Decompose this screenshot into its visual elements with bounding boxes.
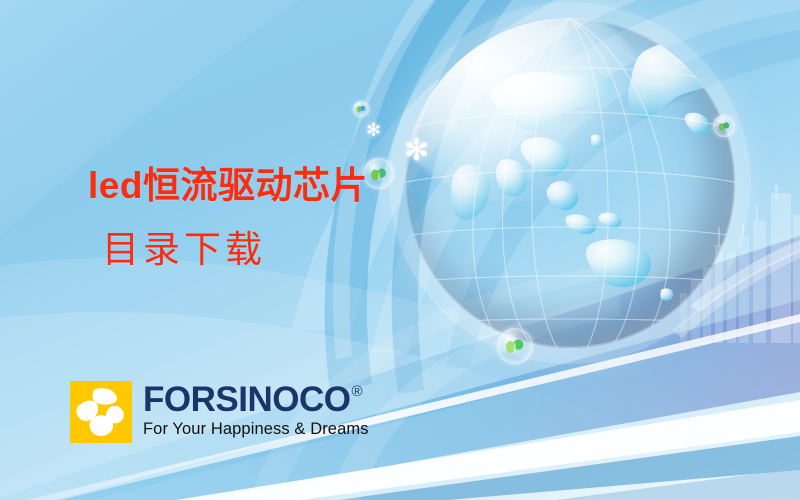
headline-latin: led bbox=[88, 165, 143, 206]
flower-petal-icon bbox=[70, 381, 132, 443]
leaf-icon bbox=[356, 104, 366, 114]
brand-wordmark: FORSINOCO ® bbox=[143, 381, 369, 418]
sprout-icon bbox=[504, 335, 526, 357]
headline-line-1: led恒流驱动芯片 bbox=[88, 164, 508, 208]
bubble-large bbox=[497, 328, 533, 364]
sparkle-icon: ✻ bbox=[404, 136, 429, 166]
logo-text-block: FORSINOCO ® For Your Happiness & Dreams bbox=[143, 381, 369, 439]
sparkle-icon: ✻ bbox=[366, 121, 381, 139]
brand-tagline: For Your Happiness & Dreams bbox=[143, 420, 369, 439]
brand-name: FORSINOCO bbox=[143, 381, 350, 418]
headline-cjk: 恒流驱动芯片 bbox=[143, 165, 368, 206]
brand-logo: FORSINOCO ® For Your Happiness & Dreams bbox=[70, 381, 369, 443]
bubble-small bbox=[353, 101, 369, 117]
bubble-small bbox=[713, 115, 735, 137]
headline-line-2: 目录下载 bbox=[102, 229, 508, 273]
leaf-icon bbox=[718, 120, 731, 133]
city-skyline bbox=[675, 175, 800, 355]
registered-trademark-icon: ® bbox=[351, 384, 362, 399]
promotional-banner: ✻ ✻ led恒流驱动芯片 目录下载 bbox=[0, 0, 800, 500]
headline-block: led恒流驱动芯片 目录下载 bbox=[88, 164, 508, 273]
logo-mark-icon bbox=[70, 381, 132, 443]
